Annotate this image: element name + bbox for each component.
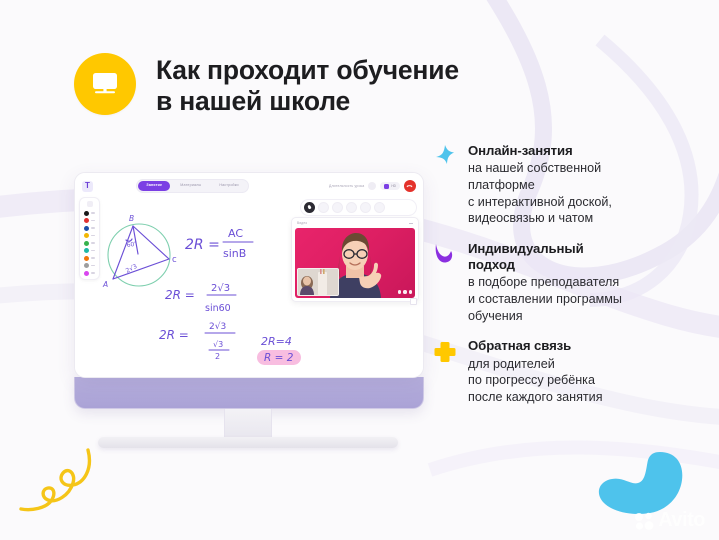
video-panel-title: Видео bbox=[297, 221, 307, 225]
feature-body: на нашей собственной платформе с интерак… bbox=[468, 160, 694, 227]
swatch-teal[interactable] bbox=[84, 248, 89, 253]
dot-icon bbox=[398, 290, 402, 294]
avito-logo-icon bbox=[634, 511, 654, 531]
svg-text:√3: √3 bbox=[213, 340, 223, 349]
video-panel[interactable]: Видео bbox=[291, 217, 419, 302]
swatch-red[interactable] bbox=[84, 218, 89, 223]
minimize-icon[interactable] bbox=[409, 223, 413, 224]
svg-text:A: A bbox=[102, 280, 108, 289]
feature-body: в подборе преподавателя и составлении пр… bbox=[468, 274, 694, 324]
lesson-duration-label: Длительность урока bbox=[329, 184, 364, 188]
monitor-icon bbox=[74, 53, 136, 115]
squiggle-decoration bbox=[18, 447, 96, 524]
monitor-chin bbox=[74, 377, 424, 409]
slide-canvas: Как проходит обучение в нашей школе T За… bbox=[0, 0, 719, 540]
tab-lesson[interactable]: Занятие bbox=[138, 181, 170, 191]
phone-hangup-icon[interactable] bbox=[404, 180, 416, 192]
swatch-blue[interactable] bbox=[84, 226, 89, 231]
lock-icon[interactable] bbox=[87, 201, 93, 207]
app-logo: T bbox=[82, 181, 93, 192]
tab-materials[interactable]: Материалы bbox=[172, 181, 209, 191]
feature-individual-approach: Индивидуальный подход в подборе преподав… bbox=[432, 241, 694, 324]
svg-text:c: c bbox=[172, 255, 177, 265]
monitor-stand-base bbox=[98, 437, 398, 448]
svg-text:2√3: 2√3 bbox=[125, 263, 139, 275]
svg-text:AC: AC bbox=[228, 227, 243, 240]
video-stage bbox=[295, 228, 415, 298]
swatch-orange[interactable] bbox=[84, 256, 89, 261]
dot-icon bbox=[409, 290, 413, 294]
monitor-screen: T Занятие Материалы Настройки Длительнос… bbox=[74, 172, 424, 378]
svg-text:2R =: 2R = bbox=[165, 288, 195, 302]
crescent-icon bbox=[432, 242, 458, 268]
lesson-tabs[interactable]: Занятие Материалы Настройки bbox=[136, 179, 249, 194]
svg-text:2R =: 2R = bbox=[159, 328, 189, 342]
more-dots-icon[interactable] bbox=[398, 290, 413, 294]
slide-header: Как проходит обучение в нашей школе bbox=[74, 53, 459, 116]
swatch-black[interactable] bbox=[84, 211, 89, 216]
swatch-gray[interactable] bbox=[84, 263, 89, 268]
svg-text:R = 2: R = 2 bbox=[264, 352, 294, 364]
avatar[interactable] bbox=[368, 182, 376, 190]
svg-text:2√3: 2√3 bbox=[211, 283, 230, 294]
plus-icon bbox=[432, 339, 458, 365]
app-toolbar-right: Длительность урока HD bbox=[329, 180, 416, 192]
feature-body: для родителей по прогрессу ребёнка после… bbox=[468, 356, 694, 406]
svg-text:sin60: sin60 bbox=[205, 303, 231, 314]
quality-badge-label: HD bbox=[391, 184, 396, 188]
video-panel-header: Видео bbox=[295, 221, 415, 228]
svg-text:2R =: 2R = bbox=[185, 237, 220, 253]
svg-text:2√3: 2√3 bbox=[209, 321, 226, 332]
swatch-green[interactable] bbox=[84, 241, 89, 246]
monitor-stand-neck bbox=[224, 409, 272, 437]
picture-in-picture[interactable] bbox=[297, 268, 339, 296]
swatch-yellow[interactable] bbox=[84, 233, 89, 238]
feature-feedback: Обратная связь для родителей по прогресс… bbox=[432, 338, 694, 405]
svg-text:2R=4: 2R=4 bbox=[261, 335, 292, 348]
feature-title: Индивидуальный подход bbox=[468, 241, 694, 273]
avito-watermark: Avito bbox=[634, 509, 705, 532]
avito-wordmark: Avito bbox=[658, 509, 705, 532]
svg-text:60°: 60° bbox=[126, 241, 138, 249]
quality-badge: HD bbox=[380, 182, 400, 190]
quality-dot-icon bbox=[384, 184, 389, 189]
star-icon bbox=[432, 144, 458, 170]
feature-title: Онлайн-занятия bbox=[468, 143, 694, 159]
resize-handle[interactable] bbox=[410, 298, 417, 305]
app-toolbar: T Занятие Материалы Настройки Длительнос… bbox=[75, 177, 423, 195]
swatch-magenta[interactable] bbox=[84, 271, 89, 276]
lesson-app: T Занятие Материалы Настройки Длительнос… bbox=[75, 173, 423, 377]
feature-online-lessons: Онлайн-занятия на нашей собственной плат… bbox=[432, 143, 694, 227]
svg-text:2: 2 bbox=[215, 352, 220, 361]
tab-settings[interactable]: Настройки bbox=[211, 181, 246, 191]
svg-text:B: B bbox=[129, 214, 134, 223]
page-title: Как проходит обучение в нашей школе bbox=[156, 53, 459, 116]
monitor-mockup: T Занятие Материалы Настройки Длительнос… bbox=[74, 172, 422, 448]
feature-title: Обратная связь bbox=[468, 338, 694, 354]
dot-icon bbox=[403, 290, 407, 294]
feature-list: Онлайн-занятия на нашей собственной плат… bbox=[432, 143, 694, 406]
svg-text:sinB: sinB bbox=[223, 247, 246, 260]
